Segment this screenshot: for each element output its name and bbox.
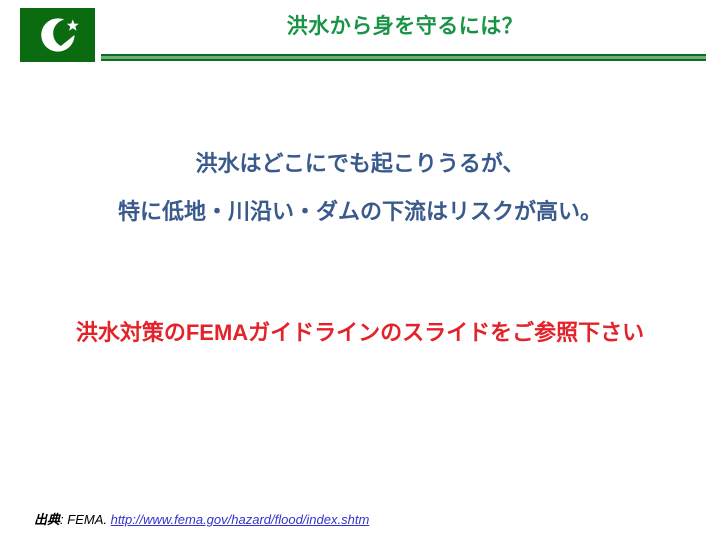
body-line-2: 特に低地・川沿い・ダムの下流はリスクが高い。	[40, 188, 680, 236]
page-title: 洪水から身を守るには？	[110, 14, 700, 39]
source-label: 出典	[34, 512, 60, 527]
pakistan-flag-logo	[20, 8, 95, 62]
slide-canvas: 洪水から身を守るには？ 洪水はどこにでも起こりうるが、 特に低地・川沿い・ダムの…	[0, 0, 720, 540]
source-organization: FEMA.	[67, 512, 110, 527]
source-citation: 出典: FEMA. http://www.fema.gov/hazard/flo…	[34, 509, 369, 528]
divider-line-bottom	[101, 59, 706, 61]
reference-notice: 洪水対策のFEMAガイドラインのスライドをご参照下さい	[40, 318, 680, 348]
body-line-1: 洪水はどこにでも起こりうるが、	[40, 140, 680, 188]
crescent-star-icon	[20, 8, 95, 62]
source-url-link[interactable]: http://www.fema.gov/hazard/flood/index.s…	[111, 512, 370, 527]
body-text-block: 洪水はどこにでも起こりうるが、 特に低地・川沿い・ダムの下流はリスクが高い。	[40, 140, 680, 236]
header-divider	[101, 54, 706, 61]
